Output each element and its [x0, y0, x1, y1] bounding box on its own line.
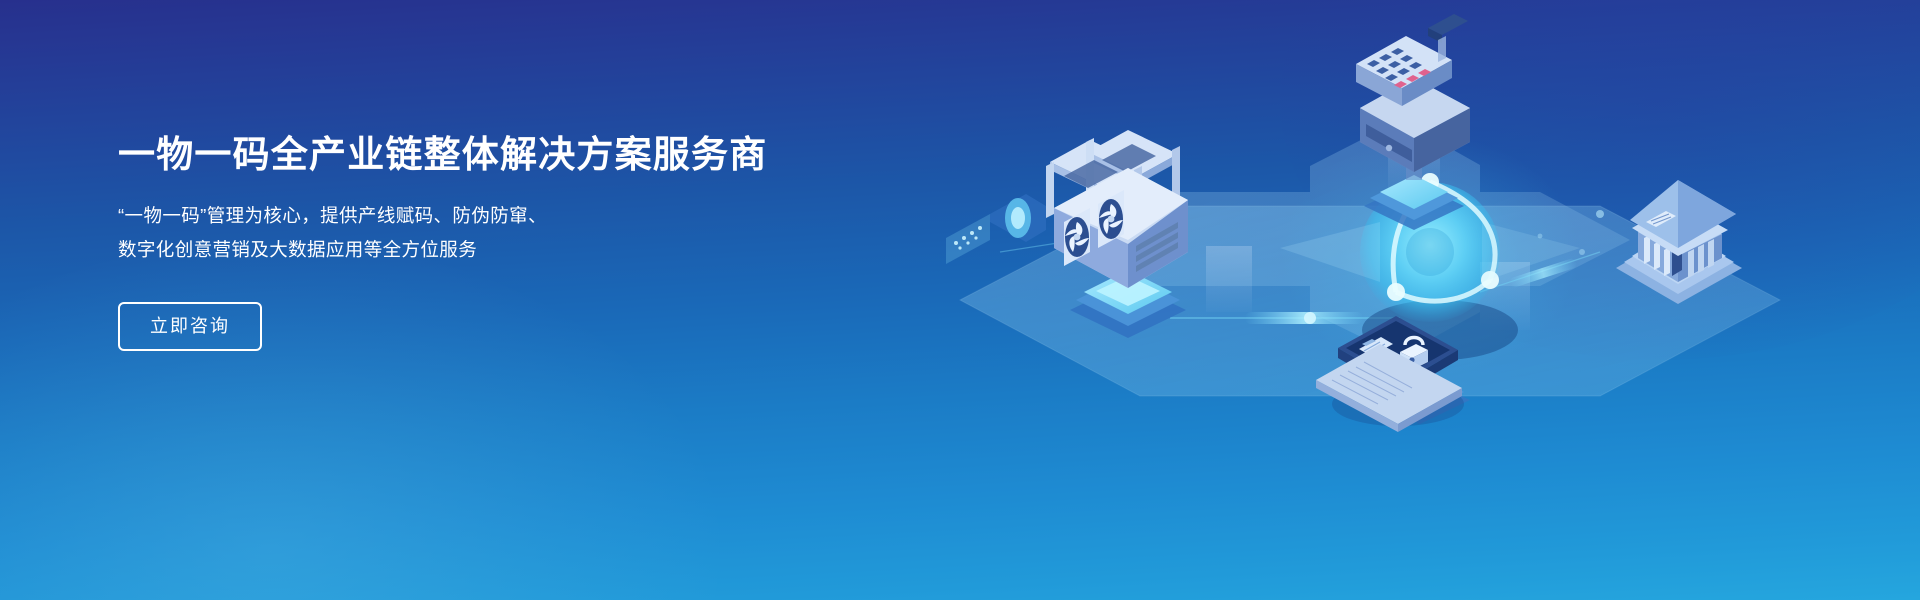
hero-banner: 一物一码全产业链整体解决方案服务商 “一物一码”管理为核心，提供产线赋码、防伪防… — [0, 0, 1920, 600]
hero-subtitle: “一物一码”管理为核心，提供产线赋码、防伪防窜、 数字化创意营销及大数据应用等全… — [118, 199, 838, 267]
hero-subtitle-line-2: 数字化创意营销及大数据应用等全方位服务 — [118, 233, 838, 267]
hero-copy: 一物一码全产业链整体解决方案服务商 “一物一码”管理为核心，提供产线赋码、防伪防… — [118, 132, 838, 351]
server-fan-machine — [946, 130, 1188, 288]
scanner-beam — [946, 194, 1046, 264]
hero-illustration — [840, 0, 1920, 600]
consult-now-button[interactable]: 立即咨询 — [118, 302, 262, 351]
page-title: 一物一码全产业链整体解决方案服务商 — [118, 132, 838, 177]
hero-subtitle-line-1: “一物一码”管理为核心，提供产线赋码、防伪防窜、 — [118, 199, 838, 233]
